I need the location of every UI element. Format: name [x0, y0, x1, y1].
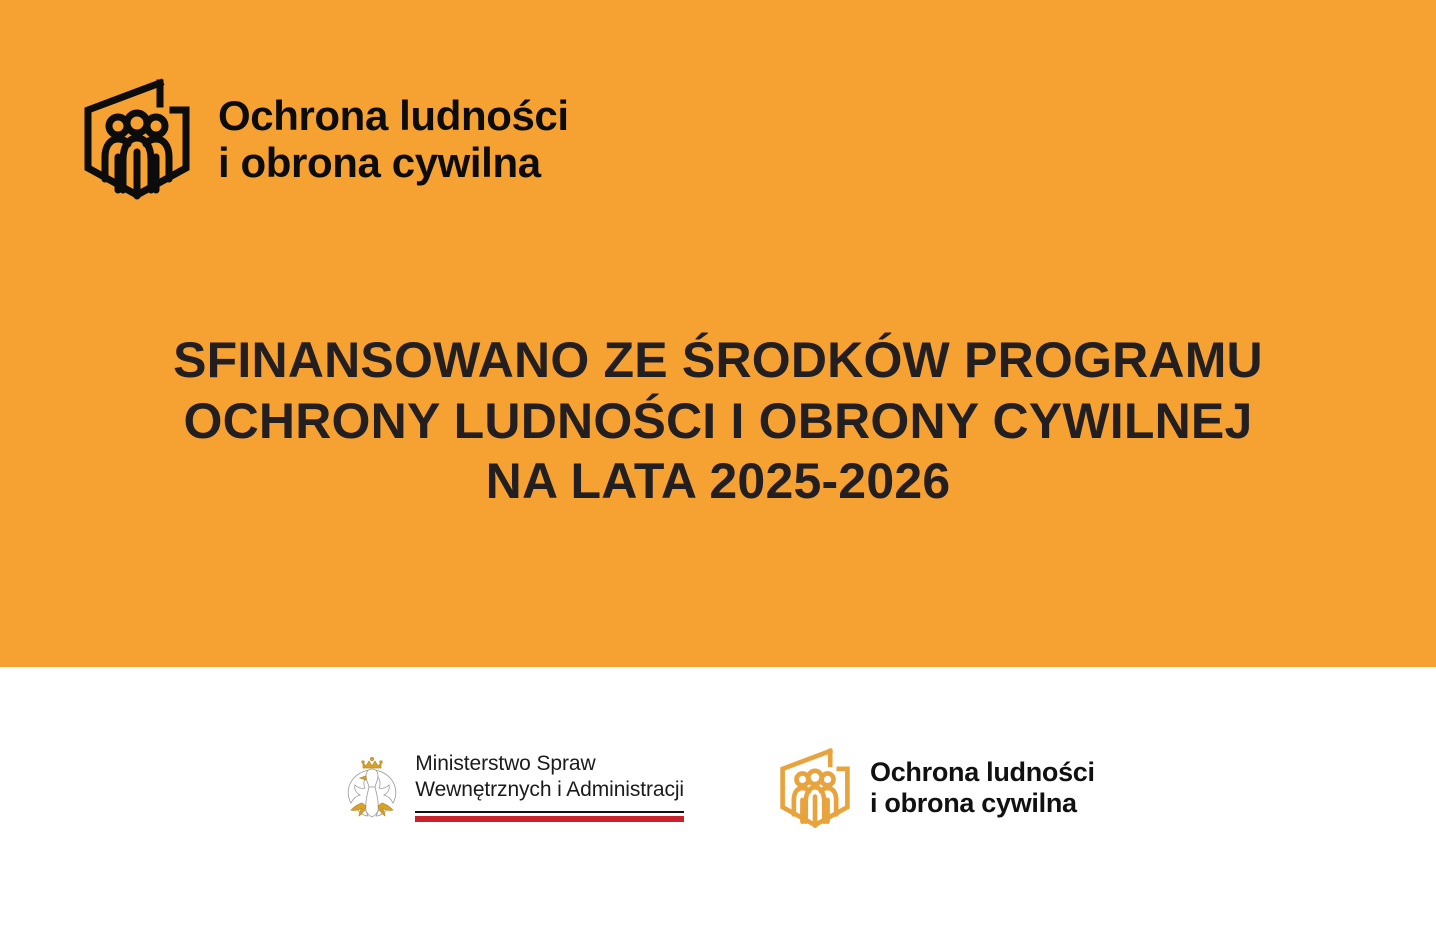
headline-line-3: NA LATA 2025-2026 — [0, 451, 1436, 512]
olioc-footer-line-2: i obrona cywilna — [870, 788, 1077, 818]
mswia-line-1: Ministerstwo Spraw — [415, 751, 684, 777]
header-logo-line-1: Ochrona ludności — [218, 92, 569, 139]
mswia-text-block: Ministerstwo Spraw Wewnętrznych i Admini… — [415, 751, 684, 822]
shield-people-icon — [776, 747, 854, 829]
footer-logo-bar: Ministerstwo Spraw Wewnętrznych i Admini… — [0, 667, 1436, 949]
olioc-footer-line-1: Ochrona ludności — [870, 757, 1095, 787]
headline-line-2: OCHRONY LUDNOŚCI I OBRONY CYWILNEJ — [0, 391, 1436, 452]
mswia-line-2: Wewnętrznych i Administracji — [415, 777, 684, 803]
shield-people-icon — [78, 78, 196, 200]
olioc-footer-wordmark: Ochrona ludności i obrona cywilna — [870, 757, 1095, 819]
page-title: SFINANSOWANO ZE ŚRODKÓW PROGRAMU OCHRONY… — [0, 330, 1436, 512]
mswia-black-rule — [415, 811, 684, 813]
header-logo-line-2: i obrona cywilna — [218, 139, 541, 186]
mswia-red-rule — [415, 816, 684, 822]
mswia-logo-lockup: Ministerstwo Spraw Wewnętrznych i Admini… — [341, 751, 684, 825]
olioc-footer-logo-lockup: Ochrona ludności i obrona cywilna — [776, 747, 1095, 829]
header-logo-lockup: Ochrona ludności i obrona cywilna — [78, 78, 569, 200]
header-logo-wordmark: Ochrona ludności i obrona cywilna — [218, 92, 569, 186]
headline-line-1: SFINANSOWANO ZE ŚRODKÓW PROGRAMU — [0, 330, 1436, 391]
polish-eagle-emblem-icon — [341, 753, 403, 825]
